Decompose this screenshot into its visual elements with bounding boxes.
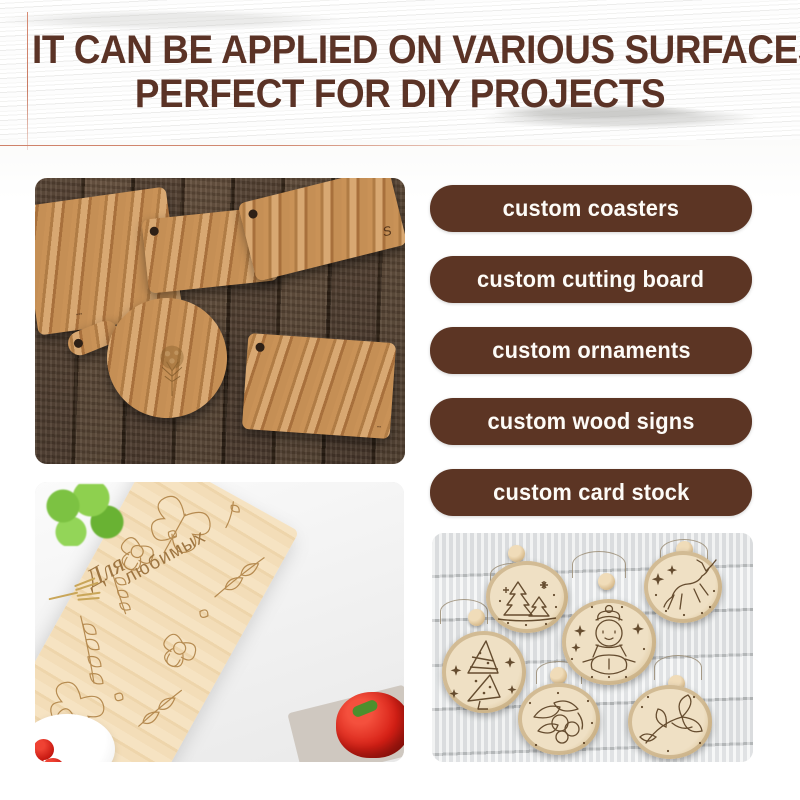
hanging-hole	[149, 226, 159, 236]
cherry-tomato	[35, 739, 54, 760]
promo-banner: IT CAN BE APPLIED ON VARIOUS SURFACES PE…	[0, 0, 800, 800]
wood-bead	[468, 609, 485, 626]
label-pill-custom-wood-signs[interactable]: custom wood signs	[430, 398, 752, 445]
ornament-geometric-tree	[442, 631, 526, 713]
label-pill-text: custom card stock	[493, 479, 689, 506]
ornament-snowman	[562, 599, 656, 685]
photo-engraved-board: Для любимых	[35, 482, 404, 762]
wood-bead	[598, 573, 615, 590]
monogram-engraving: S	[381, 223, 393, 240]
headline-line-2: PERFECT FOR DIY PROJECTS	[32, 72, 768, 116]
label-pill-text: custom wood signs	[487, 408, 694, 435]
horizontal-rule-line	[0, 145, 700, 146]
brand-stamp: ▪▪	[377, 424, 382, 430]
geometric-tree-burn-art	[442, 631, 526, 713]
snowman-burn-art	[562, 599, 656, 685]
pine-trees-burn-art	[486, 561, 568, 633]
hanging-hole	[248, 209, 259, 220]
holly-berries-burn-art	[518, 683, 600, 755]
label-pill-text: custom cutting board	[477, 266, 704, 293]
lettuce-leaf	[41, 484, 127, 546]
photo-cutting-boards: ▪▪▪ ▪▪ S ▪▪	[35, 178, 405, 464]
label-pill-custom-coasters[interactable]: custom coasters	[430, 185, 752, 232]
label-pill-custom-cutting-board[interactable]: custom cutting board	[430, 256, 752, 303]
label-pill-text: custom coasters	[503, 195, 680, 222]
hanging-hole	[255, 342, 265, 352]
photo-wood-ornaments	[432, 533, 753, 762]
wood-bead	[508, 545, 525, 562]
ornament-holly-berries	[518, 683, 600, 755]
twine-hanger	[572, 551, 626, 578]
label-pill-custom-card-stock[interactable]: custom card stock	[430, 469, 752, 516]
label-pill-custom-ornaments[interactable]: custom ornaments	[430, 327, 752, 374]
ornament-pine-trees	[486, 561, 568, 633]
board-striped: ▪▪	[242, 333, 396, 439]
vertical-rule-line	[27, 12, 28, 150]
label-pill-text: custom ornaments	[492, 337, 691, 364]
ornament-leaf-sprig	[628, 685, 712, 759]
page-title: IT CAN BE APPLIED ON VARIOUS SURFACES PE…	[32, 28, 768, 116]
headline-line-1: IT CAN BE APPLIED ON VARIOUS SURFACES	[32, 28, 768, 72]
hanging-hole	[73, 337, 85, 349]
tree-of-life-engraving	[145, 340, 199, 398]
brand-stamp: ▪▪▪	[76, 311, 83, 318]
leaf-sprig-burn-art	[628, 685, 712, 759]
